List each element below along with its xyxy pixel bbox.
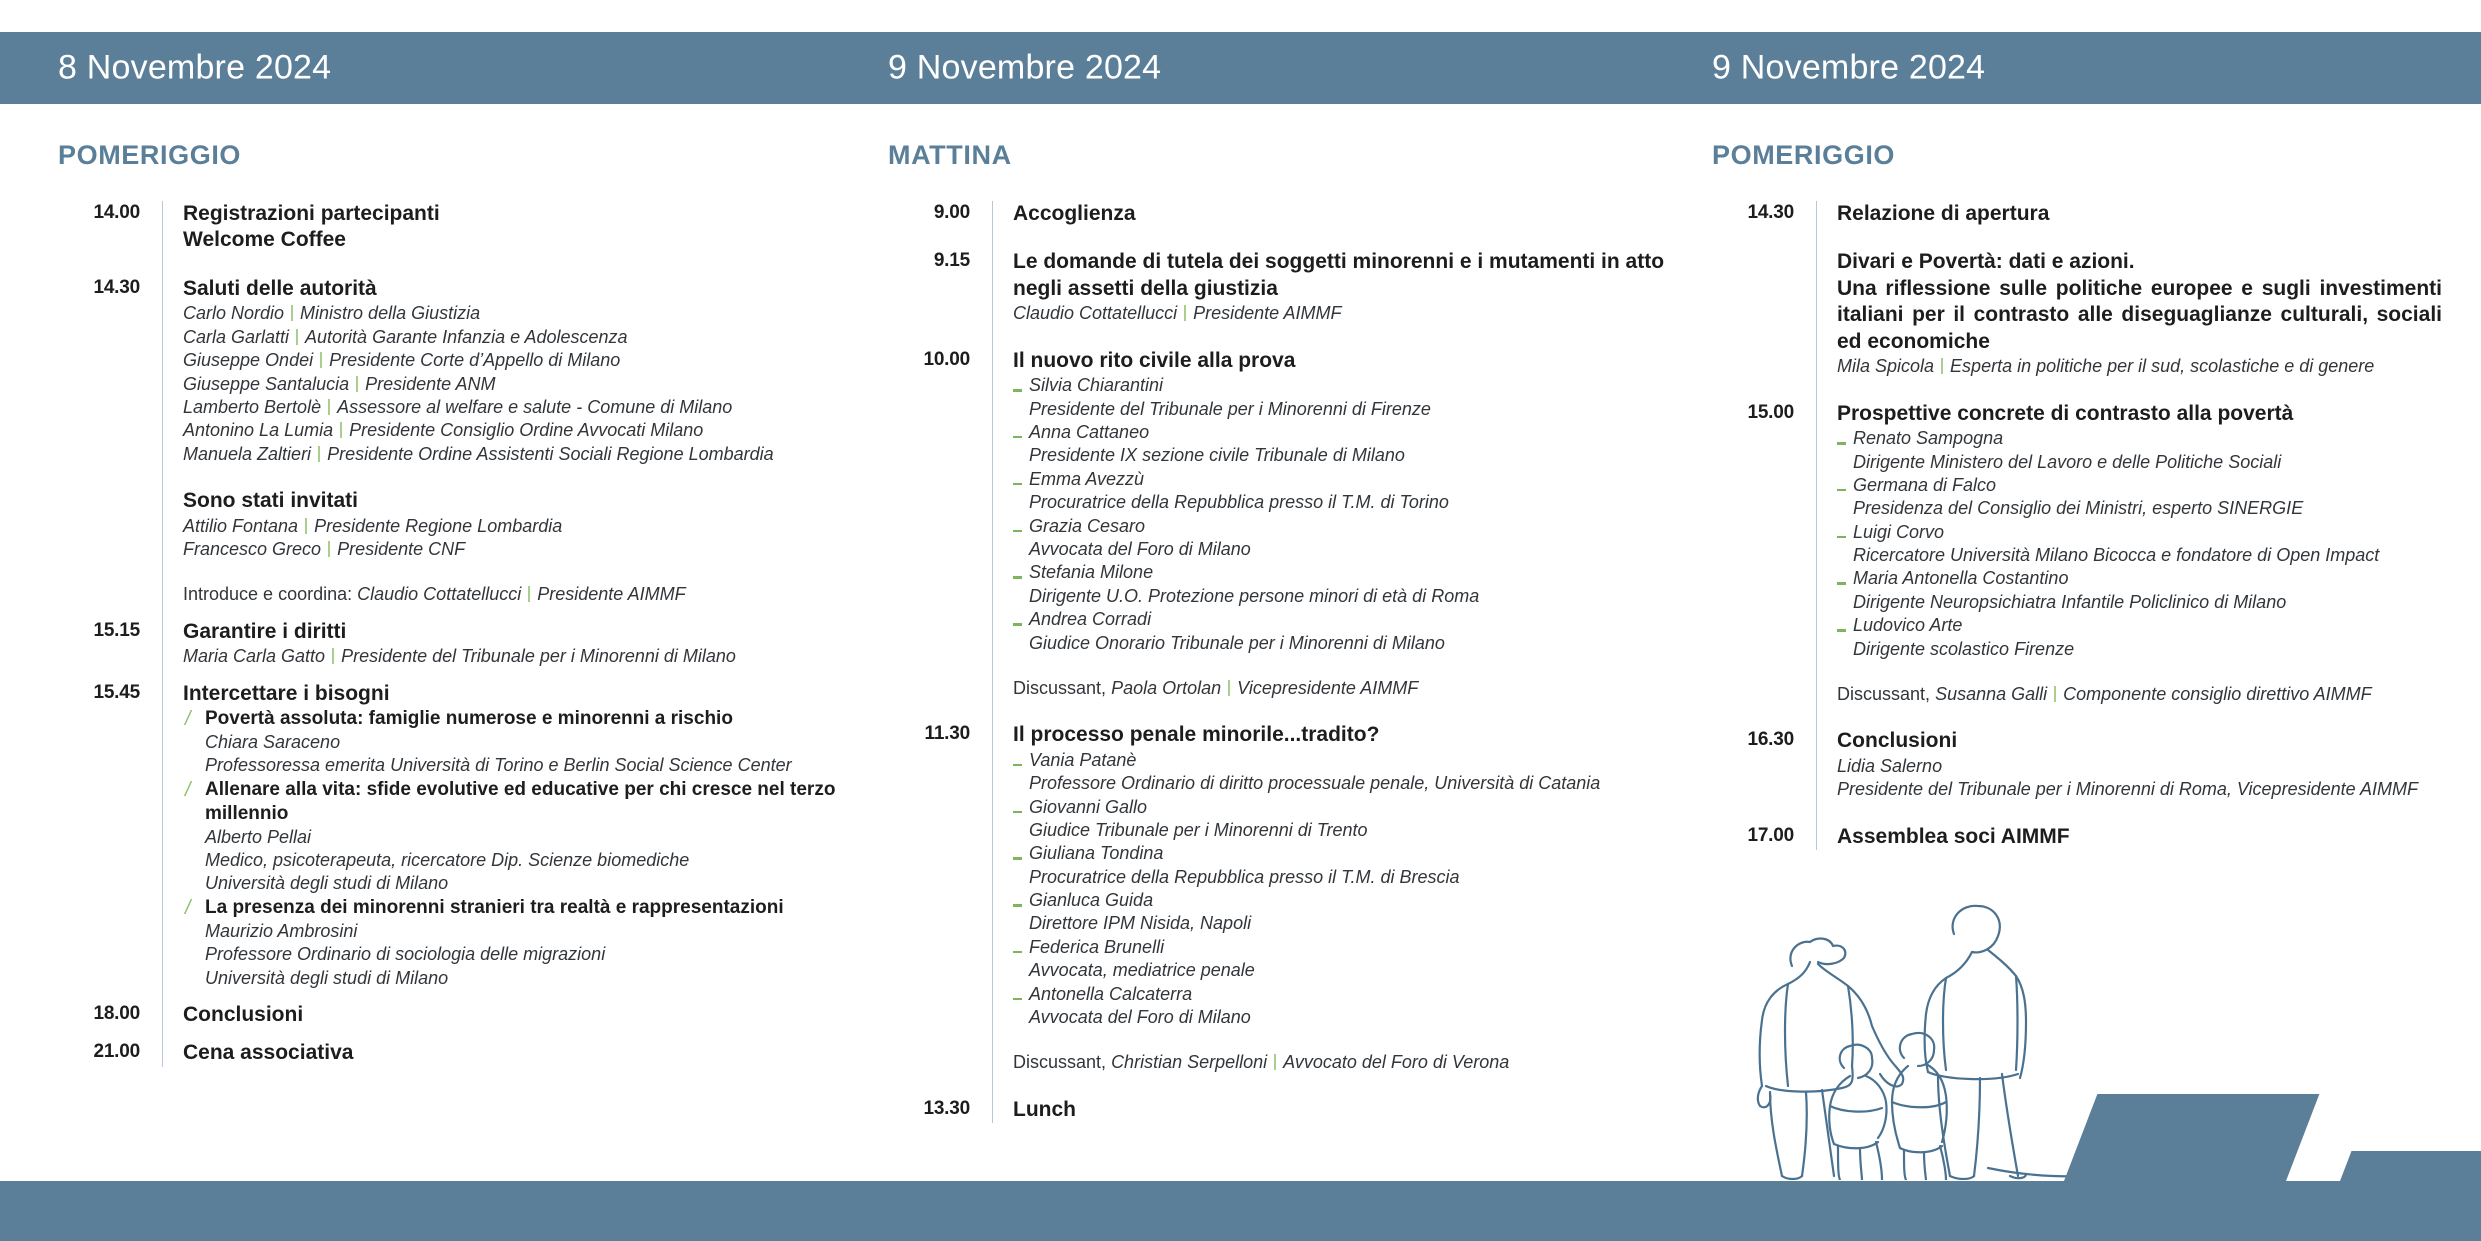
slot-time: 17.00 bbox=[1712, 824, 1816, 847]
header-band: 8 Novembre 2024 9 Novembre 2024 9 Novemb… bbox=[0, 32, 2481, 104]
slot-body: Conclusioni Lidia Salerno Presidente del… bbox=[1816, 728, 2442, 823]
bottom-band bbox=[0, 1181, 2481, 1241]
speaker-name: Giuliana Tondina bbox=[1013, 842, 1678, 865]
slot-body: Saluti delle autorità Carlo NordioMinist… bbox=[162, 276, 848, 619]
bottom-accent-shape-large bbox=[2064, 1094, 2319, 1181]
person-entry: Claudio CottatellucciPresidente AIMMF bbox=[1013, 302, 1678, 325]
slot-body: Garantire i diritti Maria Carla GattoPre… bbox=[162, 619, 848, 681]
separator-bar bbox=[291, 305, 293, 321]
person-entry: Antonino La LumiaPresidente Consiglio Or… bbox=[183, 419, 848, 442]
schedule-slot: 15.15 Garantire i diritti Maria Carla Ga… bbox=[58, 619, 848, 681]
speaker-name: Giovanni Gallo bbox=[1013, 796, 1678, 819]
speaker-role: Dirigente Ministero del Lavoro e delle P… bbox=[1837, 451, 2442, 474]
slot-title: Prospettive concrete di contrasto alla p… bbox=[1837, 401, 2442, 427]
speaker-role: Presidenza del Consiglio dei Ministri, e… bbox=[1837, 497, 2442, 520]
speaker-role: Ricercatore Università Milano Bicocca e … bbox=[1837, 544, 2442, 567]
speaker-name: Silvia Chiarantini bbox=[1013, 374, 1678, 397]
schedule-slot: 17.00 Assemblea soci AIMMF bbox=[1712, 824, 2442, 850]
schedule-slot: 9.15 Le domande di tutela dei soggetti m… bbox=[888, 249, 1678, 347]
person-entry: Lamberto BertolèAssessore al welfare e s… bbox=[183, 396, 848, 419]
discussant-line: Discussant, Paola OrtolanVicepresidente … bbox=[1013, 677, 1678, 700]
schedule-slot: 9.00 Accoglienza bbox=[888, 201, 1678, 249]
person-entry: Maria Carla GattoPresidente del Tribunal… bbox=[183, 645, 848, 668]
slot-title: Lunch bbox=[1013, 1097, 1678, 1123]
separator-bar bbox=[1274, 1054, 1276, 1070]
lecture-title: Divari e Povertà: dati e azioni. bbox=[1837, 249, 2442, 275]
speaker-name: Renato Sampogna bbox=[1837, 427, 2442, 450]
speaker-role: Dirigente U.O. Protezione persone minori… bbox=[1013, 585, 1678, 608]
header-date-day2-morning: 9 Novembre 2024 bbox=[888, 49, 1161, 88]
speaker-name: Andrea Corradi bbox=[1013, 608, 1678, 631]
speaker-name: Federica Brunelli bbox=[1013, 936, 1678, 959]
slot-body: Registrazioni partecipanti Welcome Coffe… bbox=[162, 201, 848, 276]
session-heading-3: POMERIGGIO bbox=[1712, 140, 2442, 171]
person-entry: Carla GarlattiAutorità Garante Infanzia … bbox=[183, 326, 848, 349]
separator-bar bbox=[2054, 686, 2056, 702]
slot-body: Conclusioni bbox=[162, 1002, 848, 1040]
speaker-role: Procuratrice della Repubblica presso il … bbox=[1013, 491, 1678, 514]
slot-title: Accoglienza bbox=[1013, 201, 1678, 227]
topic-heading: Povertà assoluta: famiglie numerose e mi… bbox=[183, 707, 848, 731]
slot-body: Cena associativa bbox=[162, 1040, 848, 1066]
slot-title: Il processo penale minorile...tradito? bbox=[1013, 722, 1678, 748]
slot-time: 15.15 bbox=[58, 619, 162, 642]
person-entry: Manuela ZaltieriPresidente Ordine Assist… bbox=[183, 443, 848, 466]
discussant-line: Discussant, Christian SerpelloniAvvocato… bbox=[1013, 1051, 1678, 1074]
slot-title: Garantire i diritti bbox=[183, 619, 848, 645]
speaker-name: Emma Avezzù bbox=[1013, 468, 1678, 491]
invited-heading: Sono stati invitati bbox=[183, 488, 848, 514]
speaker-name: Antonella Calcaterra bbox=[1013, 983, 1678, 1006]
separator-bar bbox=[318, 446, 320, 462]
slot-title: Intercettare i bisogni bbox=[183, 681, 848, 707]
bottom-accent-shape-small bbox=[2340, 1151, 2481, 1181]
separator-bar bbox=[1184, 305, 1186, 321]
slot-title: Saluti delle autorità bbox=[183, 276, 848, 302]
topic-person-role: Università degli studi di Milano bbox=[183, 872, 848, 895]
slot-title-second-line: Welcome Coffee bbox=[183, 227, 848, 253]
separator-bar bbox=[328, 399, 330, 415]
person-entry: Francesco GrecoPresidente CNF bbox=[183, 538, 848, 561]
speaker-role: Avvocata del Foro di Milano bbox=[1013, 1006, 1678, 1029]
separator-bar bbox=[1941, 358, 1943, 374]
slot-time: 15.00 bbox=[1712, 401, 1816, 424]
slot-title: Registrazioni partecipanti bbox=[183, 201, 848, 227]
speaker-role: Direttore IPM Nisida, Napoli bbox=[1013, 912, 1678, 935]
slot-time: 21.00 bbox=[58, 1040, 162, 1063]
speaker-role: Avvocata del Foro di Milano bbox=[1013, 538, 1678, 561]
slot-body: Intercettare i bisogni Povertà assoluta:… bbox=[162, 681, 848, 1002]
schedule-slot: 18.00 Conclusioni bbox=[58, 1002, 848, 1040]
topic-person: Maurizio Ambrosini bbox=[183, 920, 848, 943]
topic-heading: Allenare alla vita: sfide evolutive ed e… bbox=[183, 778, 848, 826]
topic-person-role: Medico, psicoterapeuta, ricercatore Dip.… bbox=[183, 849, 848, 872]
slot-body: Relazione di apertura Divari e Povertà: … bbox=[1816, 201, 2442, 401]
slot-title: Conclusioni bbox=[1837, 728, 2442, 754]
speaker-name: Ludovico Arte bbox=[1837, 614, 2442, 637]
separator-bar bbox=[528, 586, 530, 602]
person-entry: Attilio FontanaPresidente Regione Lombar… bbox=[183, 515, 848, 538]
slot-time: 9.15 bbox=[888, 249, 992, 272]
program-column-3: POMERIGGIO 14.30 Relazione di apertura D… bbox=[1712, 104, 2442, 850]
slot-title: Conclusioni bbox=[183, 1002, 848, 1028]
speaker-role: Dirigente Neuropsichiatra Infantile Poli… bbox=[1837, 591, 2442, 614]
speaker-role: Presidente del Tribunale per i Minorenni… bbox=[1013, 398, 1678, 421]
separator-bar bbox=[356, 376, 358, 392]
program-column-1: POMERIGGIO 14.00 Registrazioni partecipa… bbox=[58, 104, 848, 1067]
separator-bar bbox=[1228, 680, 1230, 696]
slot-time: 16.30 bbox=[1712, 728, 1816, 751]
session-heading-1: POMERIGGIO bbox=[58, 140, 848, 171]
slot-body: Lunch bbox=[992, 1097, 1678, 1123]
slot-time: 11.30 bbox=[888, 722, 992, 745]
topic-person: Alberto Pellai bbox=[183, 826, 848, 849]
speaker-name: Germana di Falco bbox=[1837, 474, 2442, 497]
header-date-day1: 8 Novembre 2024 bbox=[58, 49, 331, 88]
person-role: Presidente del Tribunale per i Minorenni… bbox=[1837, 778, 2442, 801]
person-name: Lidia Salerno bbox=[1837, 755, 2442, 778]
schedule-slot: 14.30 Saluti delle autorità Carlo Nordio… bbox=[58, 276, 848, 619]
person-entry: Giuseppe SantaluciaPresidente ANM bbox=[183, 373, 848, 396]
schedule-slot: 21.00 Cena associativa bbox=[58, 1040, 848, 1066]
schedule-slot: 11.30 Il processo penale minorile...trad… bbox=[888, 722, 1678, 1097]
slot-time: 13.30 bbox=[888, 1097, 992, 1120]
speaker-name: Maria Antonella Costantino bbox=[1837, 567, 2442, 590]
separator-bar bbox=[328, 541, 330, 557]
slot-time: 10.00 bbox=[888, 348, 992, 371]
schedule-slot: 10.00 Il nuovo rito civile alla prova Si… bbox=[888, 348, 1678, 723]
slot-title: Cena associativa bbox=[183, 1040, 848, 1066]
schedule-slot: 13.30 Lunch bbox=[888, 1097, 1678, 1123]
person-entry: Mila SpicolaEsperta in politiche per il … bbox=[1837, 355, 2442, 378]
schedule-slot: 14.00 Registrazioni partecipanti Welcome… bbox=[58, 201, 848, 276]
schedule-slot: 15.00 Prospettive concrete di contrasto … bbox=[1712, 401, 2442, 729]
speaker-role: Giudice Tribunale per i Minorenni di Tre… bbox=[1013, 819, 1678, 842]
topic-person: Chiara Saraceno bbox=[183, 731, 848, 754]
schedule-slot: 15.45 Intercettare i bisogni Povertà ass… bbox=[58, 681, 848, 1002]
speaker-name: Stefania Milone bbox=[1013, 561, 1678, 584]
schedule-slot: 16.30 Conclusioni Lidia Salerno Presiden… bbox=[1712, 728, 2442, 823]
topic-heading: La presenza dei minorenni stranieri tra … bbox=[183, 896, 848, 920]
slot-body: Assemblea soci AIMMF bbox=[1816, 824, 2442, 850]
slot-time: 14.30 bbox=[1712, 201, 1816, 224]
topic-person-role: Professoressa emerita Università di Tori… bbox=[183, 754, 848, 777]
slot-time: 15.45 bbox=[58, 681, 162, 704]
header-date-day2-afternoon: 9 Novembre 2024 bbox=[1712, 49, 1985, 88]
separator-bar bbox=[296, 329, 298, 345]
slot-body: Il processo penale minorile...tradito? V… bbox=[992, 722, 1678, 1097]
slot-title: Assemblea soci AIMMF bbox=[1837, 824, 2442, 850]
speaker-name: Vania Patanè bbox=[1013, 749, 1678, 772]
speaker-role: Procuratrice della Repubblica presso il … bbox=[1013, 866, 1678, 889]
slot-title: Il nuovo rito civile alla prova bbox=[1013, 348, 1678, 374]
moderator-line: Introduce e coordina: Claudio Cottatellu… bbox=[183, 583, 848, 606]
slot-body: Le domande di tutela dei soggetti minore… bbox=[992, 249, 1678, 347]
speaker-role: Professore Ordinario di diritto processu… bbox=[1013, 772, 1678, 795]
slot-time: 18.00 bbox=[58, 1002, 162, 1025]
session-heading-2: MATTINA bbox=[888, 140, 1678, 171]
speaker-role: Avvocata, mediatrice penale bbox=[1013, 959, 1678, 982]
slot-time: 14.00 bbox=[58, 201, 162, 224]
speaker-name: Luigi Corvo bbox=[1837, 521, 2442, 544]
speaker-role: Giudice Onorario Tribunale per i Minoren… bbox=[1013, 632, 1678, 655]
separator-bar bbox=[332, 648, 334, 664]
speaker-role: Dirigente scolastico Firenze bbox=[1837, 638, 2442, 661]
person-entry: Giuseppe OndeiPresidente Corte d’Appello… bbox=[183, 349, 848, 372]
speaker-name: Gianluca Guida bbox=[1013, 889, 1678, 912]
separator-bar bbox=[320, 352, 322, 368]
speaker-role: Presidente IX sezione civile Tribunale d… bbox=[1013, 444, 1678, 467]
separator-bar bbox=[340, 422, 342, 438]
person-entry: Carlo NordioMinistro della Giustizia bbox=[183, 302, 848, 325]
slot-title: Le domande di tutela dei soggetti minore… bbox=[1013, 249, 1678, 302]
program-column-2: MATTINA 9.00 Accoglienza 9.15 Le domande… bbox=[888, 104, 1678, 1123]
slot-body: Il nuovo rito civile alla prova Silvia C… bbox=[992, 348, 1678, 723]
slot-time: 9.00 bbox=[888, 201, 992, 224]
speaker-name: Anna Cattaneo bbox=[1013, 421, 1678, 444]
schedule-slot: 14.30 Relazione di apertura Divari e Pov… bbox=[1712, 201, 2442, 401]
slot-body: Prospettive concrete di contrasto alla p… bbox=[1816, 401, 2442, 729]
topic-person-role: Università degli studi di Milano bbox=[183, 967, 848, 990]
slot-time: 14.30 bbox=[58, 276, 162, 299]
slot-body: Accoglienza bbox=[992, 201, 1678, 249]
slot-title: Relazione di apertura bbox=[1837, 201, 2442, 227]
speaker-name: Grazia Cesaro bbox=[1013, 515, 1678, 538]
lecture-body: Una riflessione sulle politiche europee … bbox=[1837, 276, 2442, 355]
discussant-line: Discussant, Susanna GalliComponente cons… bbox=[1837, 683, 2442, 706]
topic-person-role: Professore Ordinario di sociologia delle… bbox=[183, 943, 848, 966]
separator-bar bbox=[305, 518, 307, 534]
